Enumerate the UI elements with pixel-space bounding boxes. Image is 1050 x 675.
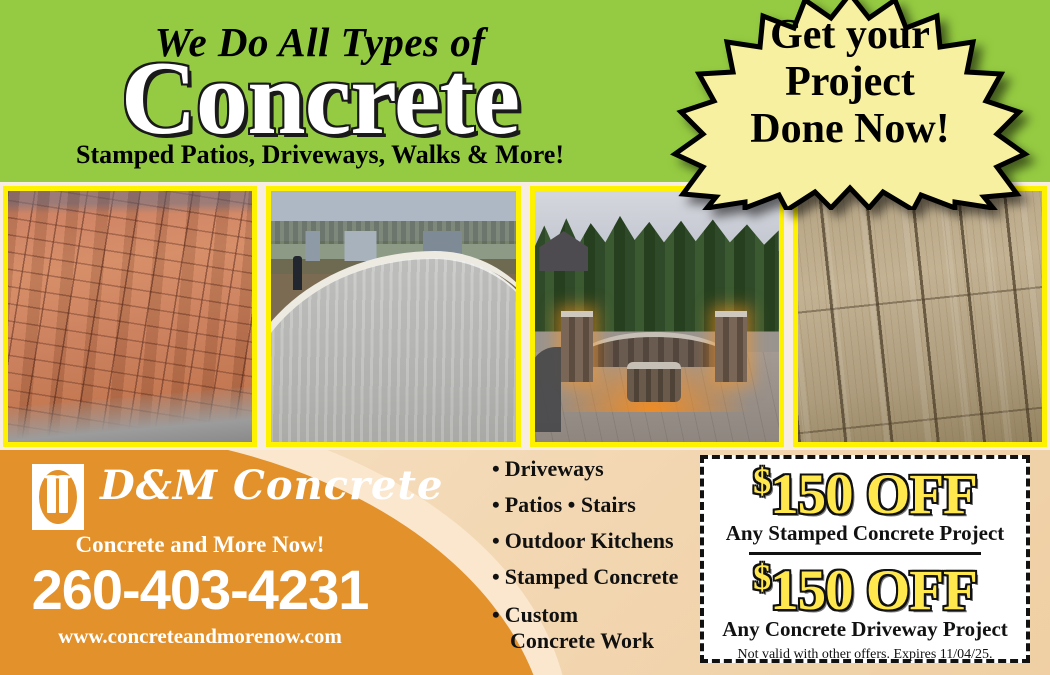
coupon-offer-1-amount: $150 OFF (704, 463, 1026, 524)
coupon-box[interactable]: $150 OFF Any Stamped Concrete Project $1… (700, 455, 1030, 663)
service-label: Driveways (505, 456, 604, 481)
list-item: •Driveways (492, 458, 702, 480)
photo-image (271, 191, 515, 442)
bullet-icon: • (492, 492, 500, 517)
gallery-photo-concrete-driveway (266, 186, 520, 447)
service-label-line2: Concrete Work (510, 628, 654, 653)
dollar-sign-icon: $ (753, 557, 770, 597)
coupon-offer-2-amount: $150 OFF (704, 559, 1026, 620)
company-identity-block: D&M Concrete Concrete and More Now! 260-… (0, 450, 470, 675)
photo-image (798, 191, 1042, 442)
company-tagline: Concrete and More Now! (0, 532, 400, 558)
coupon-offer-1-description: Any Stamped Concrete Project (704, 521, 1026, 546)
coupon-offer-2-description: Any Concrete Driveway Project (704, 617, 1026, 642)
list-item: •Stamped Concrete (492, 566, 702, 588)
ad-footer-section: D&M Concrete Concrete and More Now! 260-… (0, 450, 1050, 675)
service-label: Patios • Stairs (505, 492, 636, 517)
driveway-curb (271, 251, 515, 442)
website-url[interactable]: www.concreteandmorenow.com (0, 624, 400, 649)
starburst-shape-icon (655, 0, 1045, 210)
photo-image (8, 191, 252, 442)
service-label: Stamped Concrete (505, 564, 679, 589)
hardhat-right (56, 475, 71, 479)
list-item: •CustomConcrete Work (492, 602, 702, 654)
gallery-photo-stamped-brick-patio (3, 186, 257, 447)
stone-pillar-right (715, 311, 747, 381)
service-label: Outdoor Kitchens (505, 528, 674, 553)
header-subline: Stamped Patios, Driveways, Walks & More! (0, 140, 640, 170)
patio-chair (535, 347, 562, 432)
page-title: Concrete (0, 45, 640, 150)
starburst-badge: Get your Project Done Now! (655, 0, 1045, 210)
list-item: •Outdoor Kitchens (492, 530, 702, 552)
coupon-divider (749, 552, 981, 555)
worker-figure-right (59, 477, 68, 513)
list-item: •Patios • Stairs (492, 494, 702, 516)
worker-figure-left (47, 477, 56, 513)
person-figure (293, 256, 302, 290)
gallery-photo-wood-plank-stamped (793, 186, 1047, 447)
photo-image (535, 191, 779, 442)
photo-gallery (0, 182, 1050, 450)
bullet-icon: • (492, 602, 500, 627)
offer-amount-text: 150 OFF (770, 559, 977, 622)
service-label: Custom (505, 602, 578, 627)
brand-lockup: D&M Concrete (32, 462, 362, 536)
services-list: •Driveways •Patios • Stairs •Outdoor Kit… (492, 458, 702, 668)
phone-number[interactable]: 260-403-4231 (0, 562, 400, 618)
gallery-photo-firepit-seat-wall (530, 186, 784, 447)
two-workers-oval-icon (32, 464, 84, 530)
bullet-icon: • (492, 528, 500, 553)
company-name: D&M Concrete (100, 462, 443, 509)
dollar-sign-icon: $ (753, 461, 770, 501)
fire-pit (627, 362, 681, 402)
offer-amount-text: 150 OFF (770, 463, 977, 526)
concrete-advertisement: We Do All Types of Concrete Stamped Pati… (0, 0, 1050, 675)
bullet-icon: • (492, 564, 500, 589)
bullet-icon: • (492, 456, 500, 481)
stone-pillar-left (561, 311, 593, 381)
coupon-fineprint: Not valid with other offers. Expires 11/… (704, 647, 1026, 663)
